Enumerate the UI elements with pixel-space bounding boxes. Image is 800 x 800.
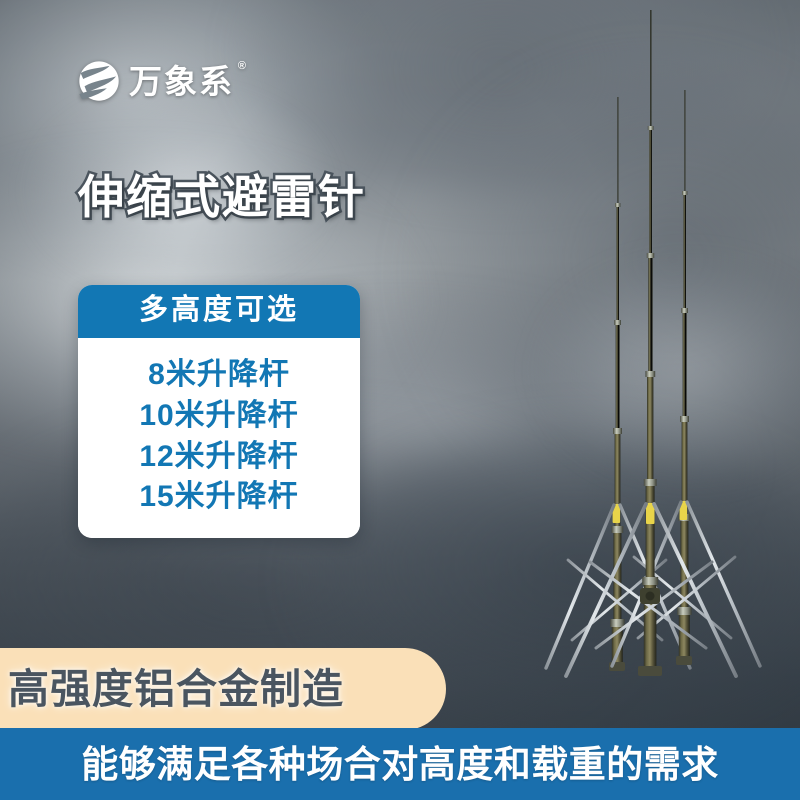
height-options-card-header: 多高度可选 xyxy=(78,285,360,338)
brand-name: 万象系 ® xyxy=(129,65,234,98)
list-item: 8米升降杆 xyxy=(78,355,360,396)
material-banner: 高强度铝合金制造 xyxy=(0,648,446,730)
list-item: 12米升降杆 xyxy=(78,437,360,478)
page-title: 伸缩式避雷针 xyxy=(78,172,366,223)
benefit-banner-text: 能够满足各种场合对高度和载重的需求 xyxy=(81,746,719,783)
list-item: 10米升降杆 xyxy=(78,396,360,437)
product-poster: 万象系 ® 伸缩式避雷针 多高度可选 8米升降杆 10米升降杆 12米升降杆 1… xyxy=(0,0,800,800)
height-options-card: 多高度可选 8米升降杆 10米升降杆 12米升降杆 15米升降杆 xyxy=(78,285,360,538)
list-item: 15米升降杆 xyxy=(78,477,360,518)
brand-name-text: 万象系 xyxy=(129,63,234,100)
registered-trademark-icon: ® xyxy=(238,61,248,72)
material-banner-text: 高强度铝合金制造 xyxy=(8,669,344,710)
benefit-banner: 能够满足各种场合对高度和载重的需求 xyxy=(0,728,800,800)
brand-logo: 万象系 ® xyxy=(78,60,234,102)
swoosh-circle-logo-icon xyxy=(78,60,120,102)
height-options-list: 8米升降杆 10米升降杆 12米升降杆 15米升降杆 xyxy=(78,338,360,538)
height-options-card-header-label: 多高度可选 xyxy=(78,296,360,325)
